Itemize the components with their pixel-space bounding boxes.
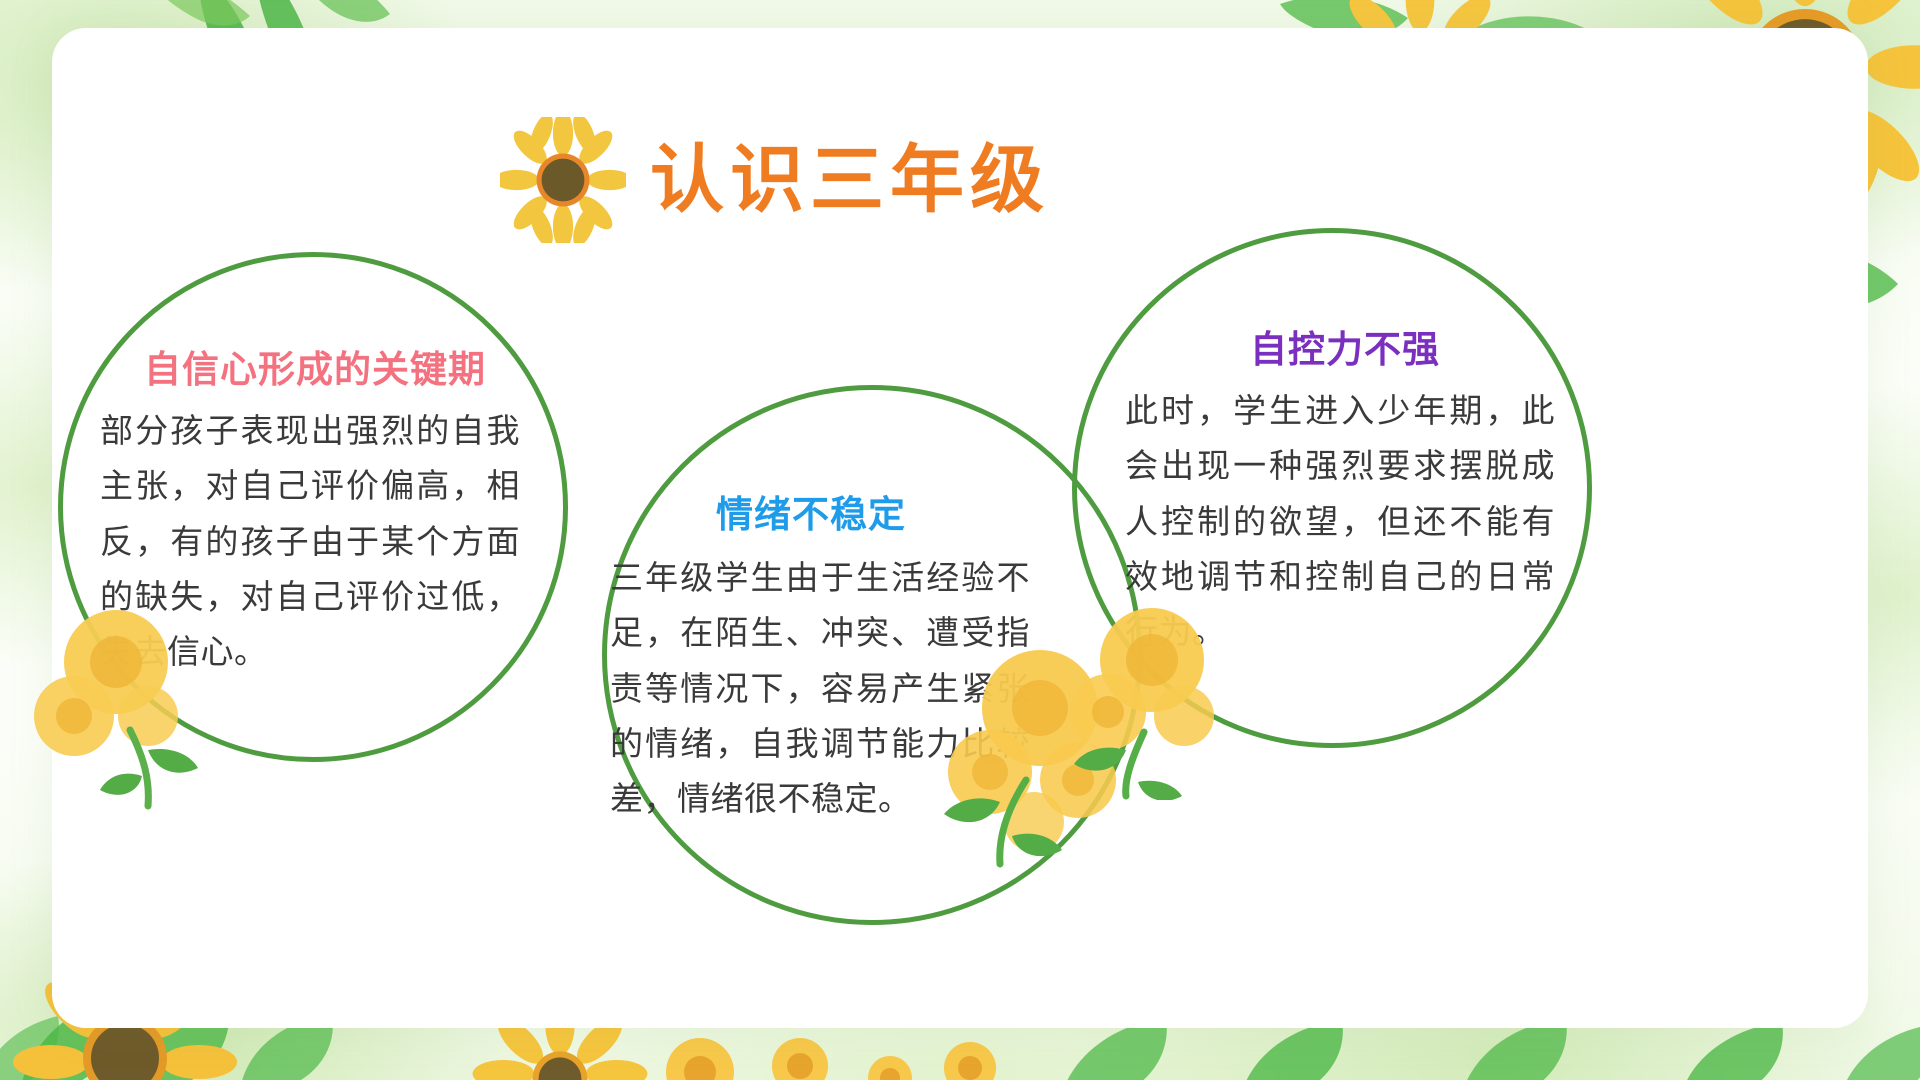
text-block-selfcontrol: 自控力不强 此时，学生进入少年期，此会出现一种强烈要求摆脱成人控制的欲望，但还不… [1125,330,1565,660]
heading-selfcontrol: 自控力不强 [1125,330,1565,371]
page-title: 认识三年级 [650,143,1050,217]
body-selfcontrol: 此时，学生进入少年期，此会出现一种强烈要求摆脱成人控制的欲望，但还不能有效地调节… [1125,383,1555,660]
text-block-emotion: 情绪不稳定 三年级学生由于生活经验不足，在陌生、冲突、遭受指责等情况下，容易产生… [596,495,1026,827]
heading-emotion: 情绪不稳定 [596,495,1026,536]
slide-canvas: 认识三年级 自信心形成的关键期 部分孩子表现出强烈的自我主张，对自己评价偏高，相… [0,0,1920,1080]
slide-title-row: 认识三年级 [500,120,1140,240]
text-block-confidence: 自信心形成的关键期 部分孩子表现出强烈的自我主张，对自己评价偏高，相反，有的孩子… [100,350,530,680]
sunflower-icon [500,117,626,243]
heading-confidence: 自信心形成的关键期 [100,350,530,391]
body-emotion: 三年级学生由于生活经验不足，在陌生、冲突、遭受指责等情况下，容易产生紧张的情绪，… [610,550,1030,827]
body-confidence: 部分孩子表现出强烈的自我主张，对自己评价偏高，相反，有的孩子由于某个方面的缺失，… [100,403,520,680]
